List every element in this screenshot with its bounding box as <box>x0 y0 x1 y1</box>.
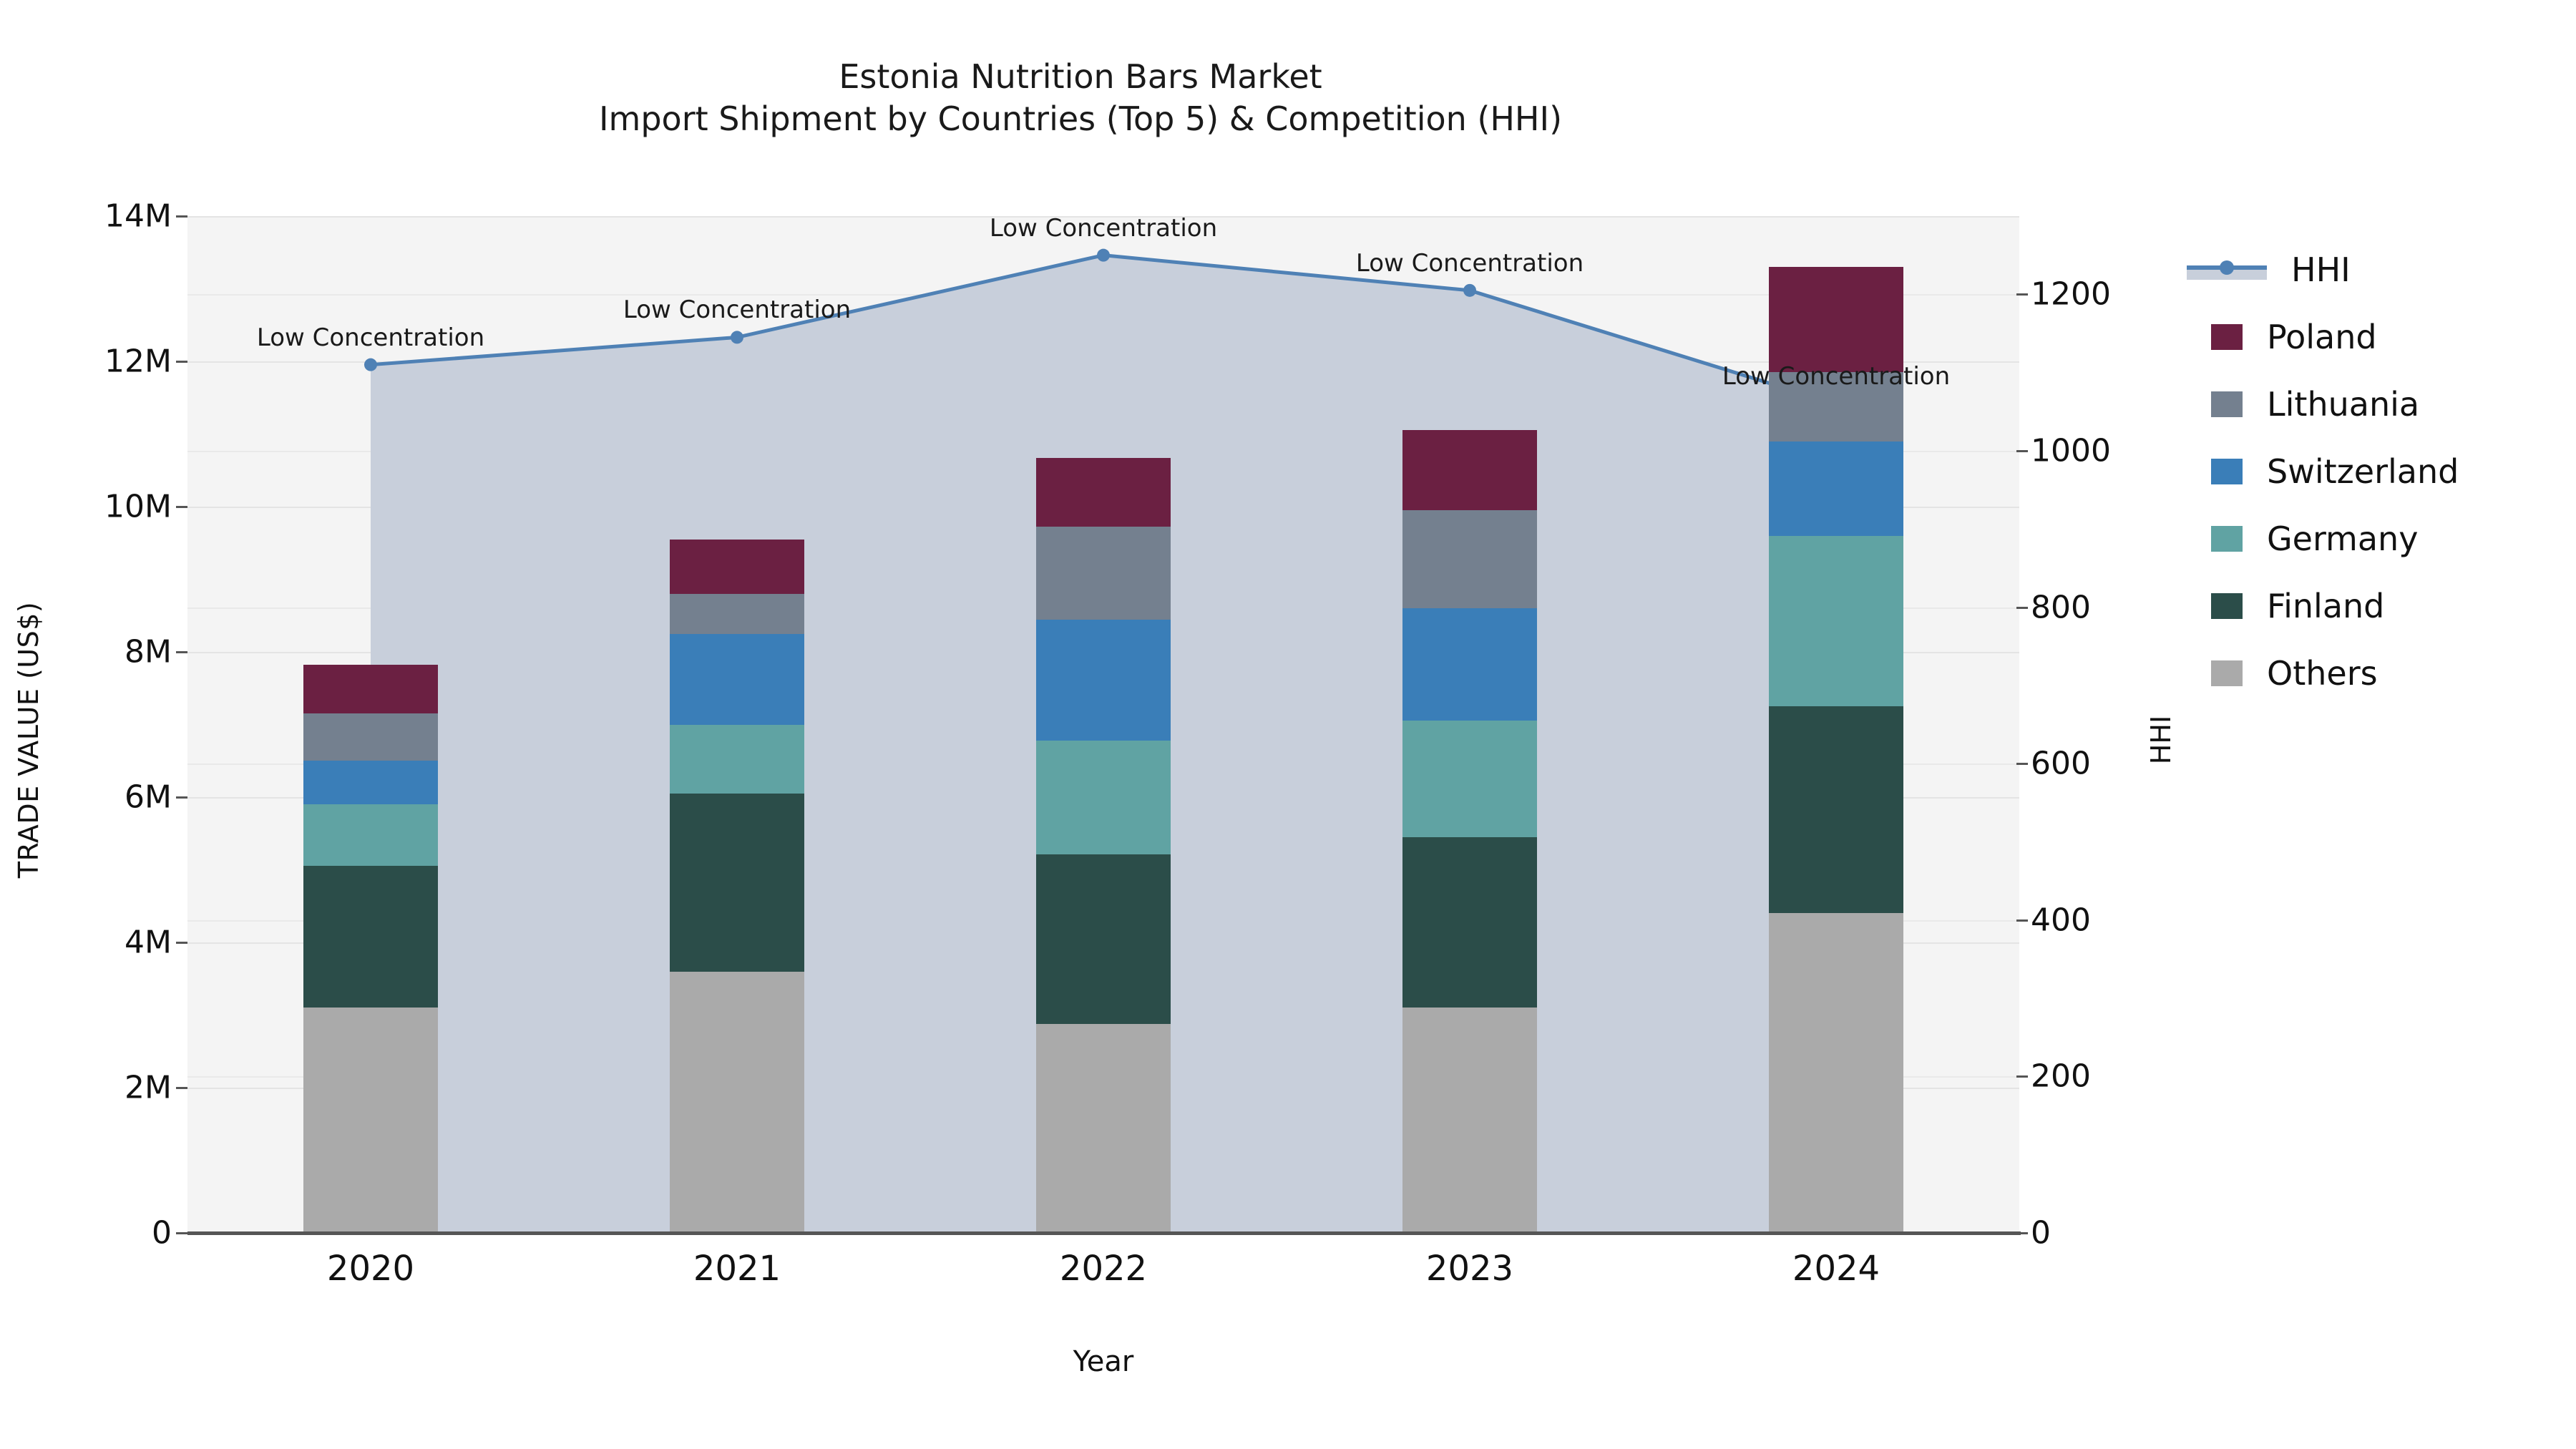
y-tick-right-label: 800 <box>2031 589 2174 625</box>
y-tick-left-mark <box>176 1232 187 1234</box>
bar-group-2023 <box>1402 430 1537 1233</box>
hhi-point[interactable] <box>364 358 377 371</box>
x-tick-2021: 2021 <box>630 1249 844 1289</box>
x-tick-2023: 2023 <box>1362 1249 1577 1289</box>
legend-item-switzerland[interactable]: Switzerland <box>2211 438 2459 505</box>
y-tick-left-label: 12M <box>0 343 172 380</box>
x-axis-line <box>187 1231 2021 1235</box>
bar-segment-germany[interactable] <box>670 725 804 794</box>
annotation-2022: Low Concentration <box>990 214 1217 243</box>
y-tick-right-mark <box>2016 1232 2028 1234</box>
legend-item-label: HHI <box>2291 250 2351 289</box>
bar-segment-finland[interactable] <box>1402 837 1537 1008</box>
legend-item-hhi[interactable]: HHI <box>2211 236 2459 303</box>
annotation-2020: Low Concentration <box>257 323 484 352</box>
bar-segment-switzerland[interactable] <box>1036 620 1171 740</box>
bar-group-2022 <box>1036 458 1171 1233</box>
legend-item-finland[interactable]: Finland <box>2211 572 2459 640</box>
bar-segment-poland[interactable] <box>1769 267 1903 372</box>
chart-title-line-1: Estonia Nutrition Bars Market <box>0 56 2161 98</box>
legend-color-swatch <box>2211 324 2243 350</box>
y-tick-right-label: 1000 <box>2031 432 2174 469</box>
bar-segment-others[interactable] <box>1402 1008 1537 1233</box>
y-axis-left-label: TRADE VALUE (US$) <box>13 489 44 990</box>
chart-title: Estonia Nutrition Bars Market Import Shi… <box>0 56 2161 140</box>
legend-color-swatch <box>2211 593 2243 619</box>
bar-segment-germany[interactable] <box>1769 536 1903 707</box>
bar-segment-finland[interactable] <box>1769 706 1903 913</box>
y-tick-right-label: 200 <box>2031 1058 2174 1095</box>
bar-segment-switzerland[interactable] <box>1402 608 1537 721</box>
y-tick-left-mark <box>176 942 187 944</box>
bar-segment-finland[interactable] <box>1036 854 1171 1023</box>
bar-segment-germany[interactable] <box>1402 721 1537 836</box>
bar-segment-others[interactable] <box>1769 913 1903 1233</box>
y-tick-right-mark <box>2016 1075 2028 1078</box>
y-tick-left-mark <box>176 215 187 218</box>
bar-segment-lithuania[interactable] <box>1402 510 1537 608</box>
bar-group-2024 <box>1769 267 1903 1233</box>
bar-segment-others[interactable] <box>1036 1024 1171 1233</box>
y-tick-left-label: 14M <box>0 198 172 235</box>
x-axis-label: Year <box>187 1345 2019 1378</box>
bar-group-2020 <box>303 665 438 1233</box>
legend-item-germany[interactable]: Germany <box>2211 505 2459 572</box>
bar-segment-poland[interactable] <box>670 540 804 594</box>
hhi-point[interactable] <box>731 331 743 343</box>
bar-segment-lithuania[interactable] <box>303 713 438 761</box>
legend-item-label: Others <box>2267 654 2378 693</box>
y-tick-left-label: 0 <box>0 1215 172 1252</box>
y-tick-right-mark <box>2016 607 2028 609</box>
bar-segment-others[interactable] <box>670 972 804 1233</box>
y-tick-right-mark <box>2016 919 2028 922</box>
legend-line-icon <box>2187 257 2267 283</box>
annotation-2021: Low Concentration <box>623 296 851 324</box>
bar-segment-germany[interactable] <box>1036 741 1171 854</box>
y-axis-right-label: HHI <box>2145 633 2177 847</box>
legend-item-label: Germany <box>2267 519 2418 558</box>
hhi-point[interactable] <box>1097 249 1110 262</box>
y-tick-right-mark <box>2016 293 2028 296</box>
legend-item-lithuania[interactable]: Lithuania <box>2211 371 2459 438</box>
bar-segment-lithuania[interactable] <box>670 594 804 634</box>
legend-item-label: Lithuania <box>2267 385 2419 424</box>
annotation-2024: Low Concentration <box>1722 362 1950 391</box>
legend-color-swatch <box>2211 526 2243 552</box>
y-tick-right-label: 0 <box>2031 1215 2174 1252</box>
legend-color-swatch <box>2211 660 2243 686</box>
hhi-point[interactable] <box>1463 284 1476 297</box>
bar-segment-germany[interactable] <box>303 804 438 866</box>
y-tick-left-mark <box>176 506 187 508</box>
y-tick-right-label: 400 <box>2031 902 2174 938</box>
x-tick-2022: 2022 <box>996 1249 1211 1289</box>
y-tick-right-mark <box>2016 450 2028 452</box>
legend-item-others[interactable]: Others <box>2211 640 2459 707</box>
y-tick-left-mark <box>176 361 187 363</box>
legend-item-poland[interactable]: Poland <box>2211 303 2459 371</box>
legend-item-label: Finland <box>2267 587 2384 625</box>
legend-item-label: Switzerland <box>2267 452 2459 491</box>
bar-segment-switzerland[interactable] <box>670 634 804 725</box>
bar-segment-finland[interactable] <box>303 866 438 1008</box>
x-tick-2024: 2024 <box>1729 1249 1943 1289</box>
legend-item-label: Poland <box>2267 318 2377 356</box>
bar-segment-lithuania[interactable] <box>1036 527 1171 620</box>
y-tick-left-label: 2M <box>0 1070 172 1106</box>
bar-group-2021 <box>670 540 804 1233</box>
chart-title-line-2: Import Shipment by Countries (Top 5) & C… <box>0 98 2161 140</box>
y-tick-right-label: 1200 <box>2031 276 2174 313</box>
x-tick-2020: 2020 <box>263 1249 478 1289</box>
legend-color-swatch <box>2211 459 2243 484</box>
bar-segment-poland[interactable] <box>1402 430 1537 510</box>
bar-segment-poland[interactable] <box>1036 458 1171 527</box>
y-tick-left-mark <box>176 1087 187 1089</box>
chart-root: Estonia Nutrition Bars Market Import Shi… <box>0 0 2576 1449</box>
legend: HHIPolandLithuaniaSwitzerlandGermanyFinl… <box>2211 236 2459 707</box>
annotation-2023: Low Concentration <box>1356 249 1584 278</box>
y-tick-left-mark <box>176 796 187 799</box>
y-tick-right-mark <box>2016 763 2028 765</box>
plot-area: Low ConcentrationLow ConcentrationLow Co… <box>187 216 2019 1233</box>
legend-color-swatch <box>2211 391 2243 417</box>
bar-segment-switzerland[interactable] <box>303 761 438 804</box>
bar-segment-switzerland[interactable] <box>1769 441 1903 536</box>
bar-segment-others[interactable] <box>303 1008 438 1233</box>
y-tick-left-mark <box>176 651 187 653</box>
bar-segment-poland[interactable] <box>303 665 438 713</box>
bar-segment-finland[interactable] <box>670 794 804 972</box>
